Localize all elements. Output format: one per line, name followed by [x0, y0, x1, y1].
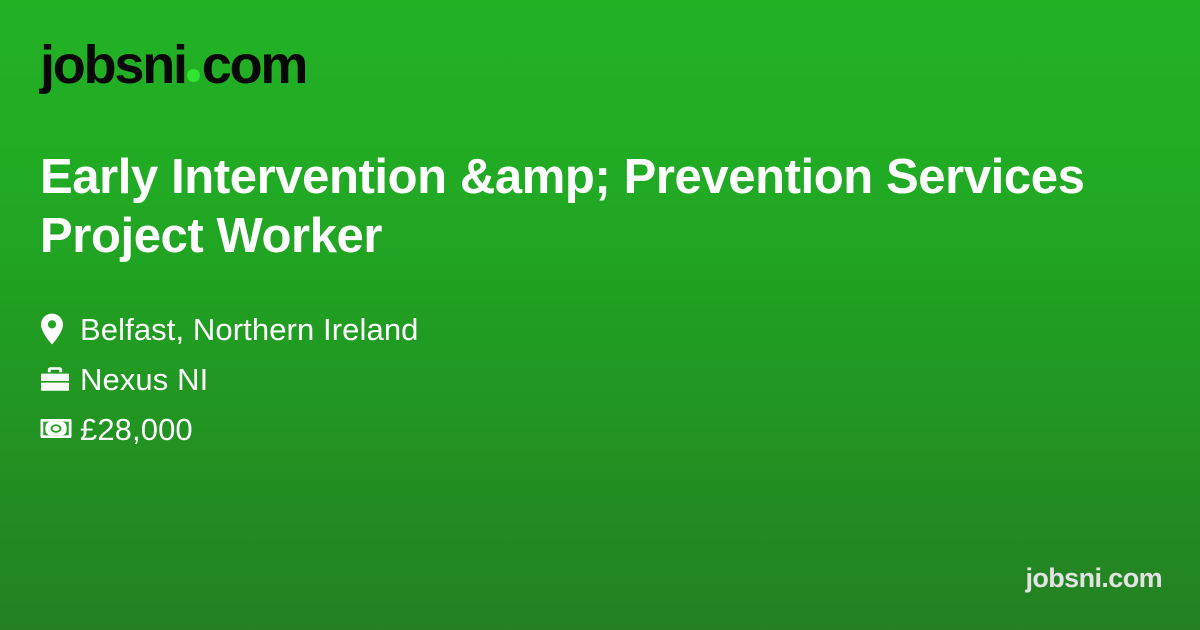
map-pin-icon [40, 312, 80, 346]
job-meta-list: Belfast, Northern Ireland Nexus NI [40, 304, 419, 454]
job-title: Early Intervention &amp; Prevention Serv… [40, 148, 1110, 266]
job-meta-salary: £28,000 [40, 404, 419, 454]
footer-watermark: jobsni.com [1025, 565, 1162, 592]
brand-name-primary: jobsni [40, 38, 186, 92]
job-share-card: jobsni com Early Intervention &amp; Prev… [0, 0, 1200, 630]
brand-logo[interactable]: jobsni com [40, 38, 306, 92]
green-dot-icon [187, 69, 200, 82]
job-location-text: Belfast, Northern Ireland [80, 314, 419, 345]
job-salary-text: £28,000 [80, 414, 193, 445]
job-company-text: Nexus NI [80, 364, 208, 395]
briefcase-icon [40, 362, 80, 396]
job-meta-location: Belfast, Northern Ireland [40, 304, 419, 354]
brand-name-tld: com [202, 38, 306, 92]
banknote-icon [40, 412, 80, 446]
job-meta-company: Nexus NI [40, 354, 419, 404]
